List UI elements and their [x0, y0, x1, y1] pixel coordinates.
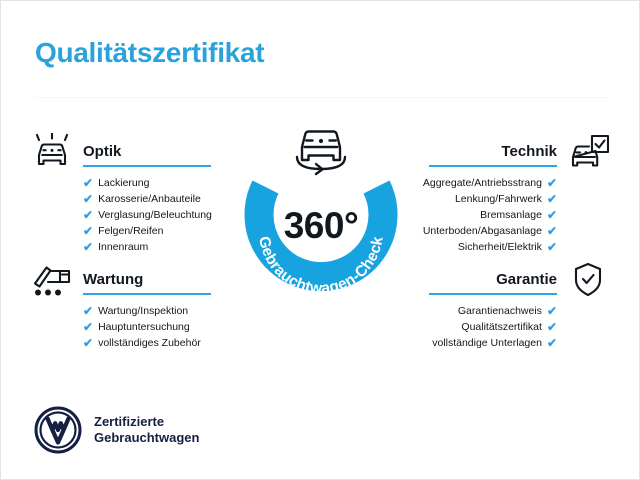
list-item-label: Karosserie/Anbauteile [98, 191, 201, 207]
vw-logo-icon [34, 406, 82, 454]
check-icon: ✔ [547, 225, 557, 237]
check-icon: ✔ [83, 305, 93, 317]
car-checkbox-icon [565, 133, 611, 171]
list-item-label: Felgen/Reifen [98, 223, 163, 239]
check-icon: ✔ [83, 177, 93, 189]
check-icon: ✔ [547, 193, 557, 205]
section-header: Optik [27, 137, 267, 167]
list-item-label: Wartung/Inspektion [98, 303, 188, 319]
check-icon: ✔ [83, 241, 93, 253]
list-item-label: Verglasung/Beleuchtung [98, 207, 212, 223]
list-item: Garantienachweis✔ [373, 303, 557, 319]
badge-360-gebrauchtwagen-check: Gebrauchtwagen-Check 360° [233, 153, 409, 305]
list-item-label: Aggregate/Antriebsstrang [423, 175, 542, 191]
check-icon: ✔ [83, 225, 93, 237]
list-item-label: Lenkung/Fahrwerk [455, 191, 542, 207]
vw-certified-footer: Zertifizierte Gebrauchtwagen [34, 406, 199, 454]
list-item: ✔vollständiges Zubehör [83, 335, 267, 351]
check-icon: ✔ [83, 337, 93, 349]
vw-footer-line1: Zertifizierte [94, 414, 199, 430]
section-divider [429, 165, 557, 167]
check-icon: ✔ [547, 305, 557, 317]
car-shine-icon [29, 133, 75, 171]
section-header: Technik [373, 137, 613, 167]
section-divider [429, 293, 557, 295]
certificate-page: Qualitätszertifikat [0, 0, 640, 480]
list-item-label: Unterboden/Abgasanlage [423, 223, 542, 239]
section-optik: Optik ✔Lackierung ✔Karosserie/Anbauteile… [27, 137, 267, 271]
section-title: Optik [83, 143, 121, 160]
list-item-label: vollständiges Zubehör [98, 335, 201, 351]
section-wartung: Wartung ✔Wartung/Inspektion ✔Hauptunters… [27, 265, 267, 367]
list-item-label: Qualitätszertifikat [461, 319, 542, 335]
section-garantie: Garantie Garantienachweis✔ Qualitätszert… [373, 265, 613, 367]
section-title: Wartung [83, 271, 143, 288]
car-rotate-icon [285, 117, 357, 181]
section-technik: Technik Aggregate/Antriebsstrang✔ Lenkun… [373, 137, 613, 271]
section-title: Garantie [496, 271, 557, 288]
list-item: ✔Wartung/Inspektion [83, 303, 267, 319]
vw-footer-line2: Gebrauchtwagen [94, 430, 199, 446]
vw-footer-text: Zertifizierte Gebrauchtwagen [94, 414, 199, 446]
check-icon: ✔ [547, 177, 557, 189]
list-item-label: Bremsanlage [480, 207, 542, 223]
list-item-label: Lackierung [98, 175, 149, 191]
section-header: Wartung [27, 265, 267, 295]
car-wrench-icon [29, 261, 75, 299]
list-item-label: vollständige Unterlagen [432, 335, 542, 351]
checklist: Aggregate/Antriebsstrang✔ Lenkung/Fahrwe… [373, 175, 613, 255]
checklist: ✔Lackierung ✔Karosserie/Anbauteile ✔Verg… [27, 175, 267, 255]
checklist: Garantienachweis✔ Qualitätszertifikat✔ v… [373, 303, 613, 351]
list-item-label: Innenraum [98, 239, 148, 255]
list-item-label: Garantienachweis [458, 303, 542, 319]
section-divider [83, 293, 211, 295]
list-item: ✔Hauptuntersuchung [83, 319, 267, 335]
list-item: vollständige Unterlagen✔ [373, 335, 557, 351]
check-icon: ✔ [547, 241, 557, 253]
section-divider [83, 165, 211, 167]
check-icon: ✔ [547, 209, 557, 221]
checklist: ✔Wartung/Inspektion ✔Hauptuntersuchung ✔… [27, 303, 267, 351]
list-item: Qualitätszertifikat✔ [373, 319, 557, 335]
list-item-label: Sicherheit/Elektrik [458, 239, 542, 255]
title-divider [34, 97, 608, 98]
check-icon: ✔ [547, 337, 557, 349]
list-item-label: Hauptuntersuchung [98, 319, 190, 335]
check-icon: ✔ [83, 209, 93, 221]
check-icon: ✔ [83, 193, 93, 205]
section-title: Technik [501, 143, 557, 160]
section-header: Garantie [373, 265, 613, 295]
badge-center-label: 360° [233, 205, 409, 247]
shield-check-icon [565, 261, 611, 299]
check-icon: ✔ [547, 321, 557, 333]
check-icon: ✔ [83, 321, 93, 333]
page-title: Qualitätszertifikat [35, 37, 264, 69]
